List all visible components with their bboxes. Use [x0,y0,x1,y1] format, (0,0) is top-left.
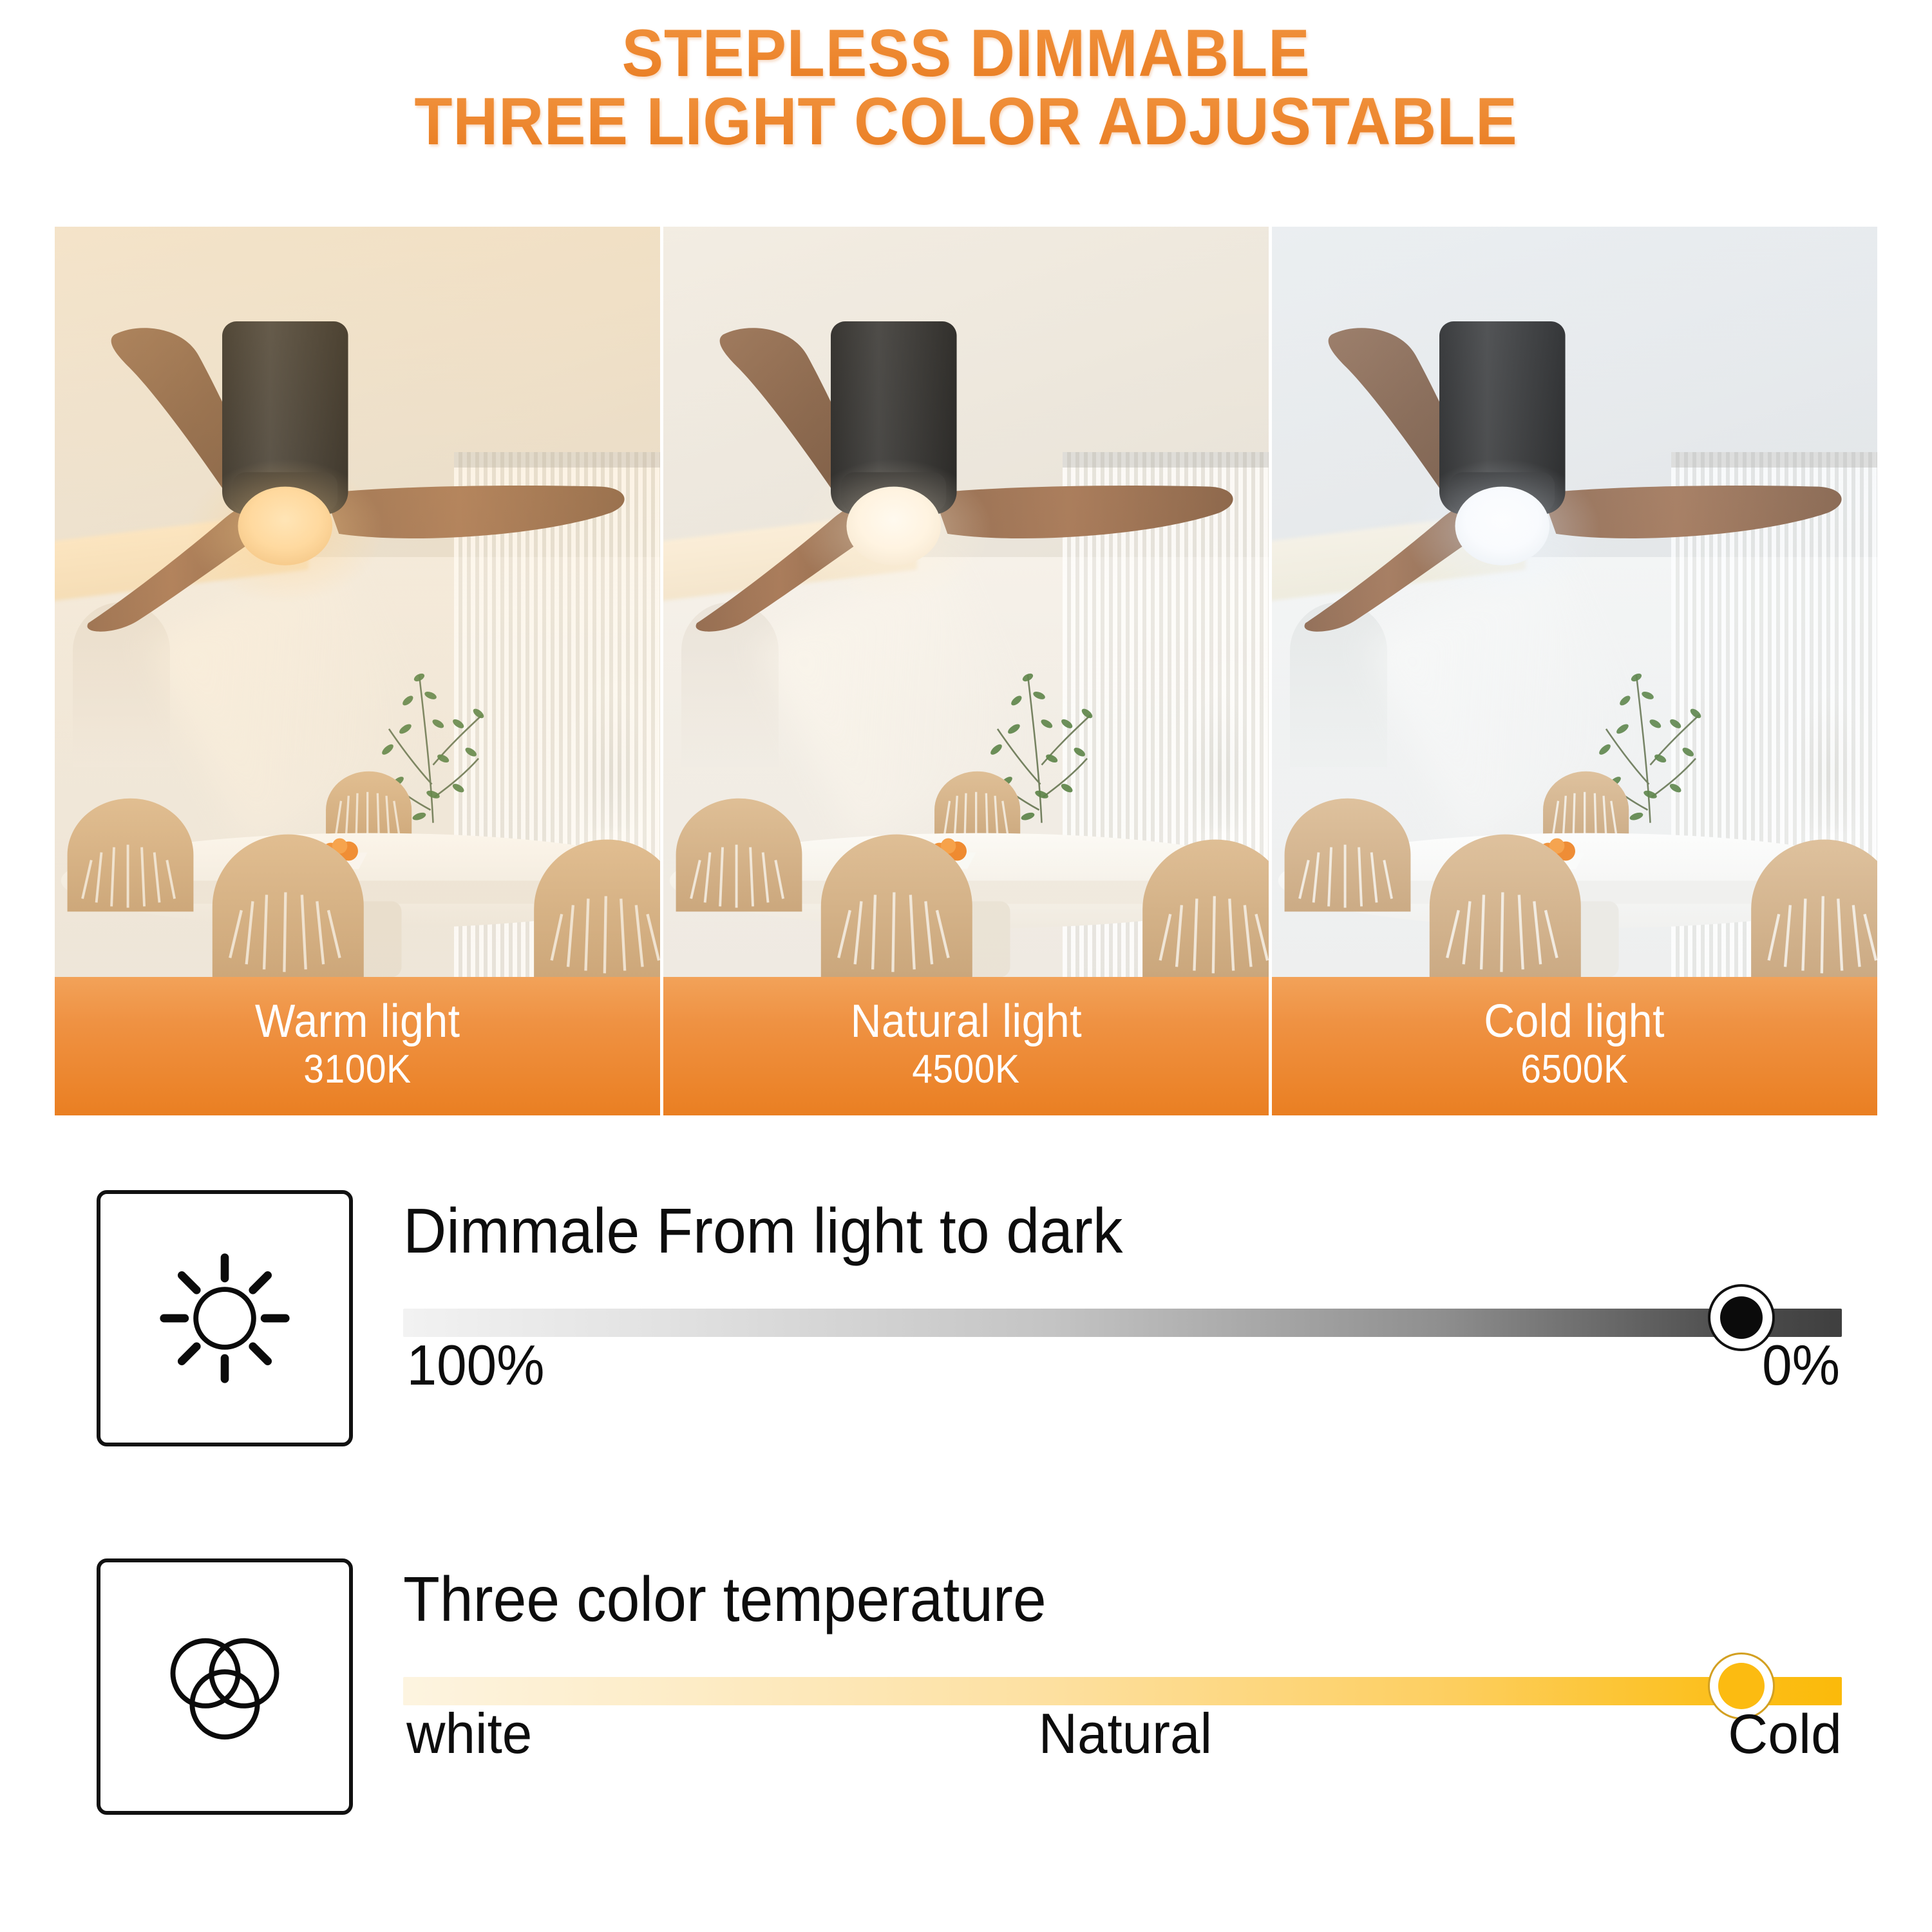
color-temperature-scale: white Natural Cold [403,1705,1842,1762]
light-color-card: Natural light 4500K [663,227,1269,1115]
card-caption: Natural light 4500K [663,977,1269,1115]
title-line-1: STEPLESS DIMMABLE [68,19,1864,88]
card-photo [1272,227,1877,977]
dimmer-scale: 100% 0% [403,1337,1842,1394]
card-caption: Warm light 3100K [55,977,660,1115]
dimmer-knob [1720,1296,1763,1339]
dimmable-content: Dimmale From light to dark 100% 0% [403,1190,1842,1446]
dimmer-track[interactable] [403,1309,1842,1337]
dimmable-heading: Dimmale From light to dark [403,1199,1770,1262]
ceiling-fan [1272,241,1877,677]
cct-scale-white: white [406,1705,532,1762]
brightness-sun-icon [151,1244,299,1392]
color-temperature-icon-box [97,1558,353,1815]
light-color-card: Warm light 3100K [55,227,660,1115]
light-color-card: Cold light 6500K [1272,227,1877,1115]
card-caption-name: Cold light [1484,998,1665,1045]
cct-scale-natural: Natural [1039,1705,1213,1762]
dining-scene [55,662,660,977]
color-temperature-knob [1718,1663,1765,1709]
card-caption-kelvin: 3100K [303,1045,411,1095]
card-caption-kelvin: 6500K [1520,1045,1628,1095]
dining-scene [1272,662,1877,977]
chair-left [68,798,194,911]
card-photo [55,227,660,977]
card-caption-name: Natural light [850,998,1081,1045]
chair-front [1430,834,1581,977]
dimmer-scale-min: 0% [1762,1337,1840,1394]
card-caption-name: Warm light [255,998,460,1045]
card-caption-kelvin: 4500K [912,1045,1019,1095]
dimmer-scale-max: 100% [407,1337,545,1394]
brightness-icon-box [97,1190,353,1446]
three-circles-icon [151,1613,299,1761]
dining-scene [663,662,1269,977]
card-caption: Cold light 6500K [1272,977,1877,1115]
color-temperature-heading: Three color temperature [403,1567,1770,1631]
light-color-card-row: Warm light 3100K [55,227,1877,1115]
feature-color-temperature: Three color temperature white Natural Co… [97,1558,1842,1816]
page-title: STEPLESS DIMMABLE THREE LIGHT COLOR ADJU… [0,19,1932,156]
chair-left [676,798,802,911]
cct-scale-cold: Cold [1728,1707,1842,1762]
ceiling-fan [663,241,1269,677]
ceiling-fan [55,241,660,677]
chair-front [821,834,972,977]
chair-left [1285,798,1411,911]
color-temperature-content: Three color temperature white Natural Co… [403,1558,1842,1815]
title-line-2: THREE LIGHT COLOR ADJUSTABLE [68,88,1864,156]
feature-dimmable: Dimmale From light to dark 100% 0% [97,1190,1842,1448]
chair-front [213,834,364,977]
card-photo [663,227,1269,977]
